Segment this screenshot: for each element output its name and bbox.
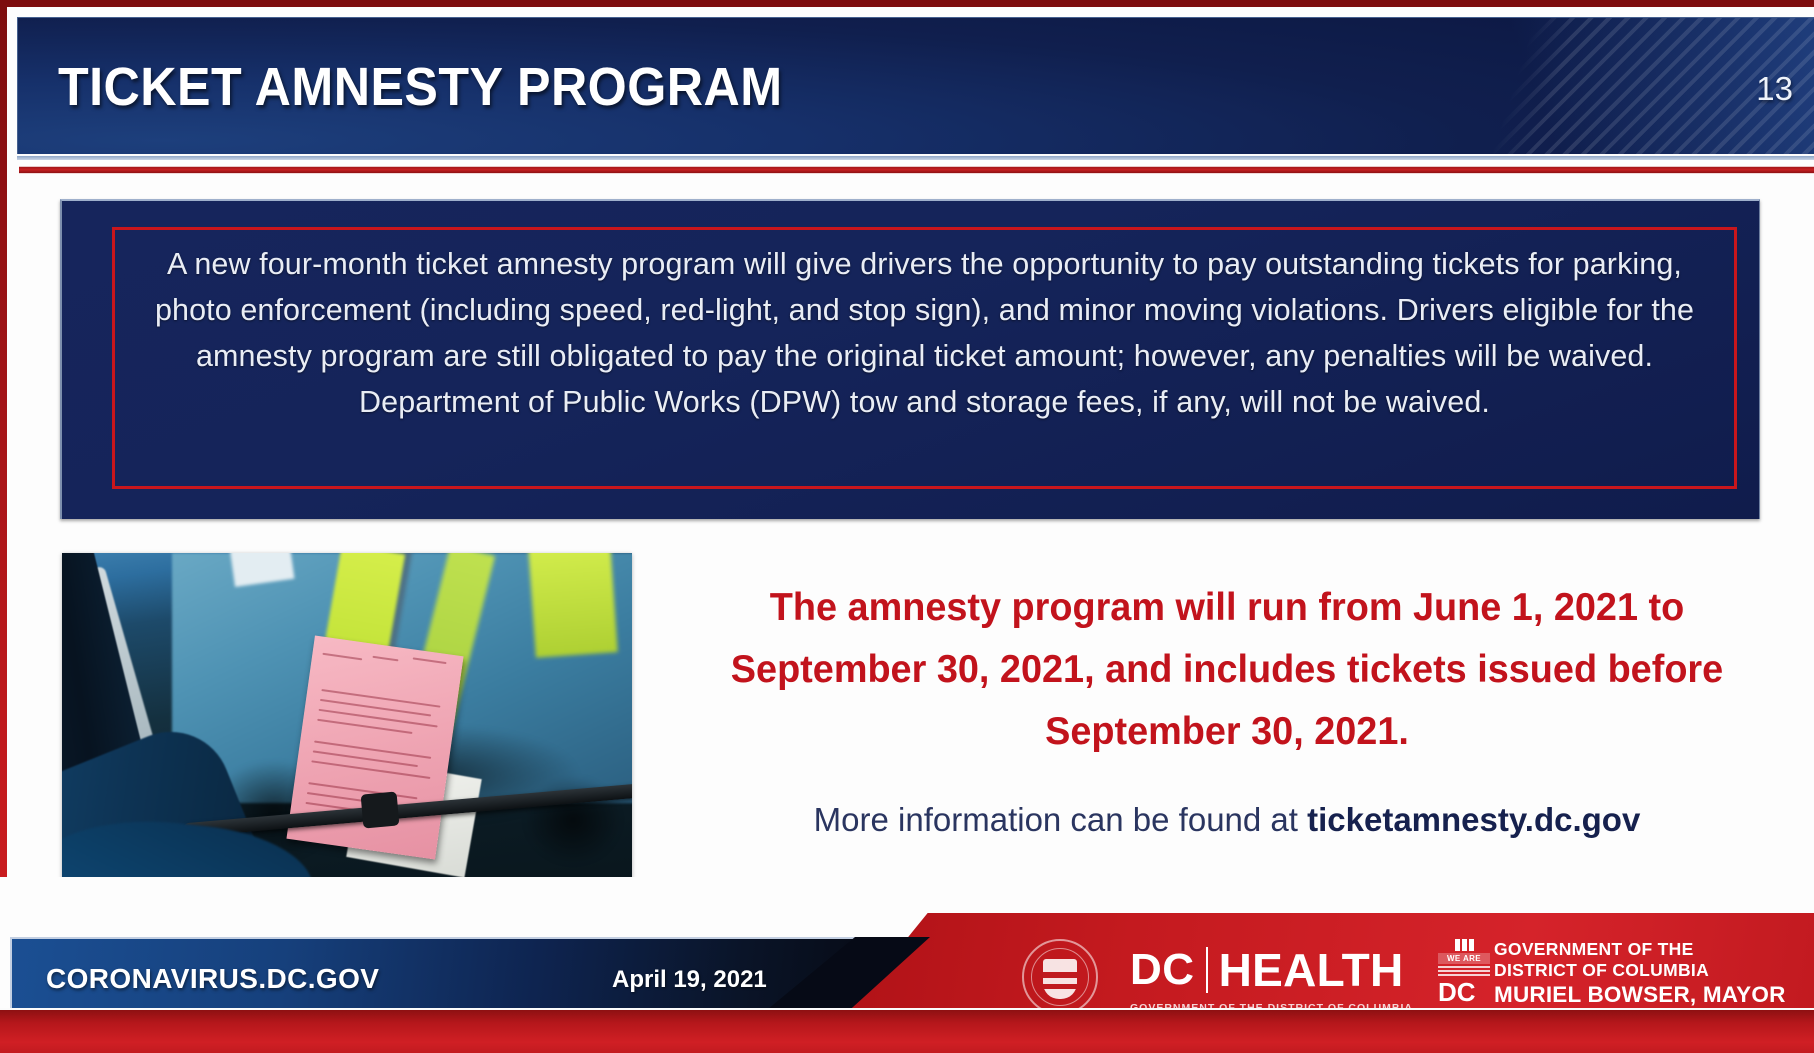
page-number: 13 bbox=[1756, 70, 1793, 108]
gov-line-2: DISTRICT OF COLUMBIA bbox=[1494, 960, 1786, 981]
dc-health-health-text: HEALTH bbox=[1219, 943, 1404, 997]
header-underline bbox=[17, 156, 1814, 160]
page-title: TICKET AMNESTY PROGRAM bbox=[58, 56, 782, 118]
coronavirus-site-label[interactable]: CORONAVIRUS.DC.GOV bbox=[46, 963, 379, 995]
more-information-line: More information can be found at ticketa… bbox=[667, 799, 1787, 841]
dc-government-text-block: GOVERNMENT OF THE DISTRICT OF COLUMBIA M… bbox=[1494, 939, 1786, 1008]
parking-ticket-photo bbox=[62, 553, 632, 923]
dc-health-divider bbox=[1206, 947, 1208, 993]
dc-health-wordmark: DC HEALTH bbox=[1130, 943, 1413, 997]
more-information-prefix: More information can be found at bbox=[814, 801, 1307, 838]
capitol-columns-icon bbox=[1438, 939, 1490, 951]
dc-seal-icon bbox=[1022, 939, 1098, 1015]
amnesty-dates-highlight: The amnesty program will run from June 1… bbox=[684, 577, 1770, 763]
we-are-dc-label: WE ARE bbox=[1438, 953, 1490, 964]
slide-date: April 19, 2021 bbox=[612, 966, 767, 994]
gov-line-3-mayor: MURIEL BOWSER, MAYOR bbox=[1494, 981, 1786, 1008]
slide-header-banner: TICKET AMNESTY PROGRAM 13 bbox=[17, 17, 1814, 154]
dc-government-dc-text: DC bbox=[1438, 979, 1490, 1005]
callout-box: A new four-month ticket amnesty program … bbox=[60, 199, 1760, 519]
dc-seal-shield-icon bbox=[1043, 959, 1077, 999]
ticketamnesty-link[interactable]: ticketamnesty.dc.gov bbox=[1307, 801, 1640, 838]
dc-flag-bars-icon bbox=[1438, 966, 1490, 976]
dc-government-mark-icon: WE ARE DC bbox=[1438, 939, 1490, 1008]
red-divider-rule bbox=[19, 166, 1814, 174]
bottom-red-strip bbox=[0, 1008, 1814, 1053]
slide-body: TICKET AMNESTY PROGRAM 13 A new four-mon… bbox=[7, 7, 1814, 1008]
photo-wiper-clip bbox=[361, 791, 400, 828]
photo-vest-yellow-stripe-c bbox=[528, 553, 617, 658]
dc-health-logo: DC HEALTH GOVERNMENT OF THE DISTRICT OF … bbox=[1130, 943, 1413, 1014]
gov-line-1: GOVERNMENT OF THE bbox=[1494, 939, 1786, 960]
slide-frame: TICKET AMNESTY PROGRAM 13 A new four-mon… bbox=[0, 0, 1814, 1053]
dc-government-logo: WE ARE DC GOVERNMENT OF THE DISTRICT OF … bbox=[1438, 939, 1786, 1008]
dc-health-dc-text: DC bbox=[1130, 945, 1195, 995]
callout-body-text: A new four-month ticket amnesty program … bbox=[132, 241, 1717, 425]
